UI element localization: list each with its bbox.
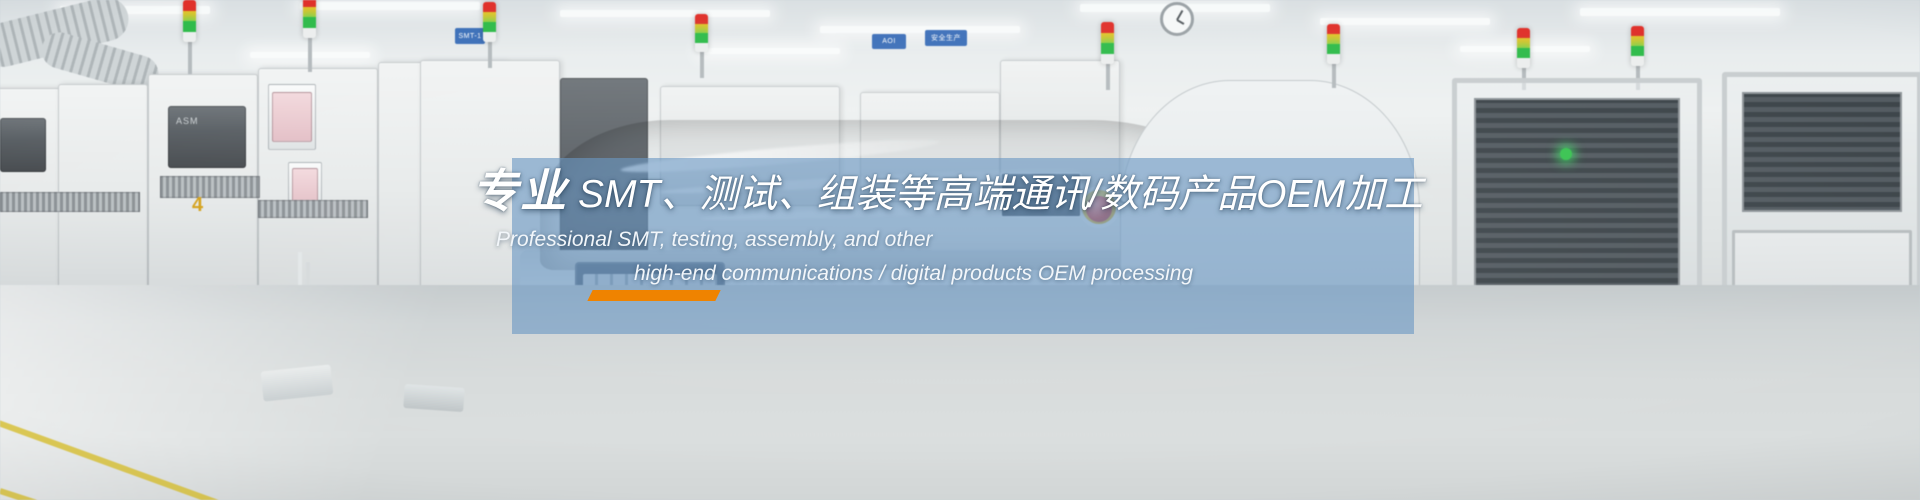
- orange-accent-bar: [587, 290, 720, 301]
- ceiling-light: [700, 48, 840, 54]
- machine-display: [272, 92, 312, 142]
- component-feeder-bank: [160, 176, 260, 198]
- ceiling-light: [560, 10, 770, 17]
- machine-head-unit: [0, 118, 46, 172]
- signal-tower-light: [695, 14, 708, 52]
- overhead-sign: SMT-1: [455, 28, 485, 44]
- overhead-sign: AOI: [872, 34, 906, 49]
- component-feeder-bank: [258, 200, 368, 218]
- headline-body-text: SMT、测试、组装等高端通讯/数码产品OEM加工: [578, 173, 1423, 216]
- signal-tower-light: [1327, 24, 1340, 64]
- hero-subtitle-line-2: high-end communications / digital produc…: [634, 260, 1193, 288]
- pcb-magazine-rack: [1742, 92, 1902, 212]
- ceiling-light: [300, 2, 480, 10]
- signal-tower-light: [1101, 22, 1114, 64]
- signal-tower-light: [183, 0, 196, 42]
- signal-tower-light: [483, 2, 496, 42]
- hero-subtitle-line-1: Professional SMT, testing, assembly, and…: [496, 226, 933, 254]
- hero-headline: 专业SMT、测试、组装等高端通讯/数码产品OEM加工: [472, 166, 1423, 217]
- rack-status-indicator: [1560, 148, 1572, 160]
- headline-lead-text: 专业: [472, 165, 568, 217]
- machine-label: ASM: [176, 116, 199, 126]
- hero-banner: SMT-1 AOI 安全生产 ASM 4: [0, 0, 1920, 500]
- signal-tower-light: [303, 0, 316, 38]
- ceiling-light: [1320, 18, 1490, 25]
- floor-cart: [403, 384, 465, 412]
- machine-label: 4: [192, 194, 203, 217]
- hero-text-overlay: 专业SMT、测试、组装等高端通讯/数码产品OEM加工 Professional …: [512, 158, 1414, 334]
- ceiling-light: [1580, 8, 1780, 16]
- wall-clock-icon: [1160, 2, 1194, 36]
- signal-tower-light: [1517, 28, 1530, 68]
- pcb-magazine-rack: [1474, 98, 1680, 288]
- overhead-sign: 安全生产: [925, 30, 967, 46]
- signal-tower-light: [1631, 26, 1644, 66]
- ceiling-light: [820, 26, 1020, 33]
- component-feeder-bank: [0, 192, 140, 212]
